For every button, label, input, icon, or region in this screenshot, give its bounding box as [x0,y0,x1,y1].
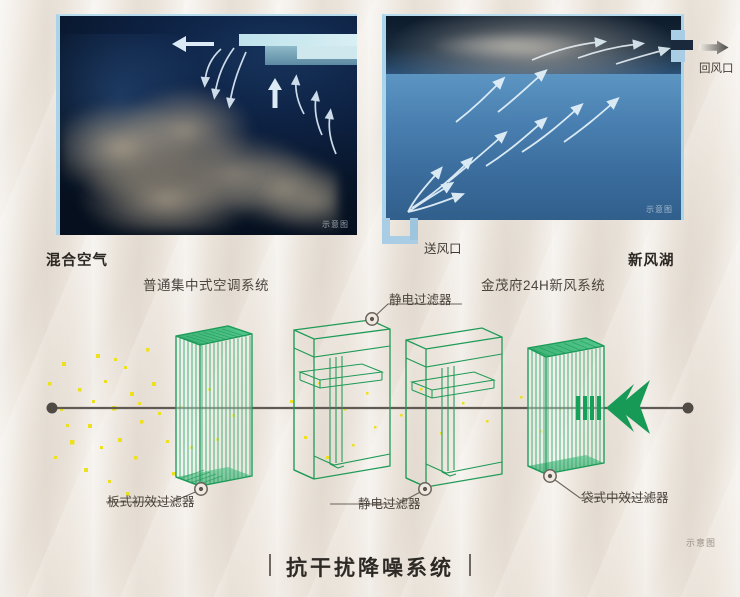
filter-panel-primary [176,326,252,486]
title-rule-right [469,554,471,576]
filtration-diagram: 板式初效过滤器 静电过滤器 静电过滤器 袋式中效过滤器 示意图 [0,296,740,541]
filter-label-primary-panel: 板式初效过滤器 [107,491,195,510]
bottom-title-text: 抗干扰降噪系统 [286,552,454,582]
airflow-arrows-left [60,16,357,235]
return-vent-label: 回风口 [699,60,734,76]
caption-fresh-air-lake: 新风湖 [628,249,675,270]
page-root: 示意图 [0,0,740,597]
supply-duct [382,218,418,244]
filter-electrostatic-1 [294,320,390,479]
filter-label-electrostatic-2: 静电过滤器 [358,493,421,512]
photo-panel-mixed-air: 示意图 [56,14,357,235]
photo-panel-fresh-air: 示意图 [382,14,684,220]
axis-endpoint-right [683,403,694,414]
system-label-conventional: 普通集中式空调系统 [143,274,269,294]
particle-field [48,348,562,496]
diagram-watermark: 示意图 [686,536,716,549]
airflow-arrows-right [386,16,678,220]
filter-label-bag-medium: 袋式中效过滤器 [581,487,669,506]
supply-vent-label: 送风口 [424,238,462,257]
return-duct-opening [671,40,693,50]
filter-label-electrostatic-1: 静电过滤器 [389,289,452,308]
right-arrow-icon [699,40,729,55]
panel-watermark-right: 示意图 [646,204,673,215]
caption-mixed-air: 混合空气 [46,249,108,270]
system-label-jinmao: 金茂府24H新风系统 [481,274,605,294]
filter-bag-medium [528,338,650,474]
bottom-title: 抗干扰降噪系统 [0,552,740,582]
axis-endpoint-left [47,403,58,414]
panel-watermark-left: 示意图 [322,219,349,230]
duct-segment-right [410,218,418,240]
title-rule-left [269,554,271,576]
